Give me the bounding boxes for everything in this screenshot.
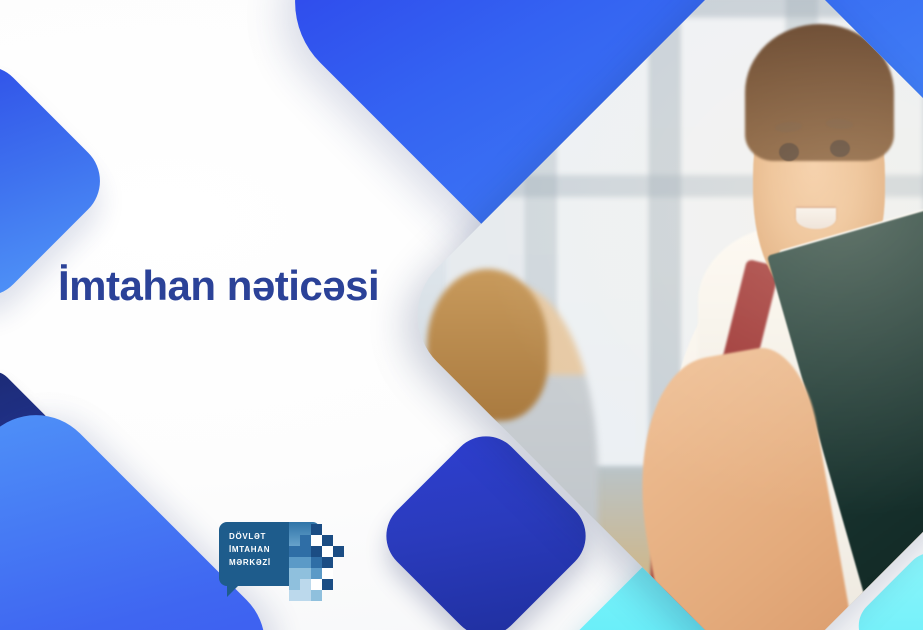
student-eye-right	[830, 140, 850, 158]
logo-mosaic-cell	[300, 535, 311, 546]
logo-mosaic-cell	[300, 557, 311, 568]
logo-mosaic-cell	[289, 568, 300, 579]
exam-result-banner: İmtahan nəticəsi DÖVLƏT İMTAHAN MƏRKƏZİ	[0, 0, 923, 630]
logo-line-3: MƏRKƏZİ	[229, 556, 271, 569]
logo-mosaic-cell	[311, 568, 322, 579]
logo-mosaic-cell	[333, 546, 344, 557]
logo-mosaic-cell	[289, 579, 300, 590]
logo-mosaic-cell	[322, 546, 333, 557]
logo-mosaic-cell	[300, 590, 311, 601]
logo-mosaic-cell	[322, 579, 333, 590]
logo-mosaic-cell	[289, 546, 300, 557]
logo-mosaic-cell	[289, 590, 300, 601]
student-eye-left	[779, 143, 799, 161]
logo-mosaic-icon	[289, 518, 347, 600]
logo-mosaic-cell	[289, 557, 300, 568]
logo-mosaic-cell	[311, 557, 322, 568]
logo-mosaic-cell	[311, 579, 322, 590]
logo-line-2: İMTAHAN	[229, 543, 271, 556]
logo-mosaic-cell	[311, 546, 322, 557]
logo-mosaic-cell	[322, 568, 333, 579]
logo-mosaic-cell	[300, 568, 311, 579]
dovlet-imtahan-merkezi-logo: DÖVLƏT İMTAHAN MƏRKƏZİ	[219, 518, 347, 600]
logo-mosaic-cell	[322, 557, 333, 568]
logo-mosaic-cell	[311, 524, 322, 535]
page-title: İmtahan nəticəsi	[58, 262, 379, 310]
logo-mosaic-cell	[311, 535, 322, 546]
logo-mosaic-cell	[300, 579, 311, 590]
logo-mosaic-cell	[300, 546, 311, 557]
main-student	[613, 0, 923, 630]
logo-text: DÖVLƏT İMTAHAN MƏRKƏZİ	[229, 530, 271, 569]
logo-mosaic-cell	[322, 535, 333, 546]
logo-line-1: DÖVLƏT	[229, 530, 271, 543]
logo-mosaic-cell	[311, 590, 322, 601]
